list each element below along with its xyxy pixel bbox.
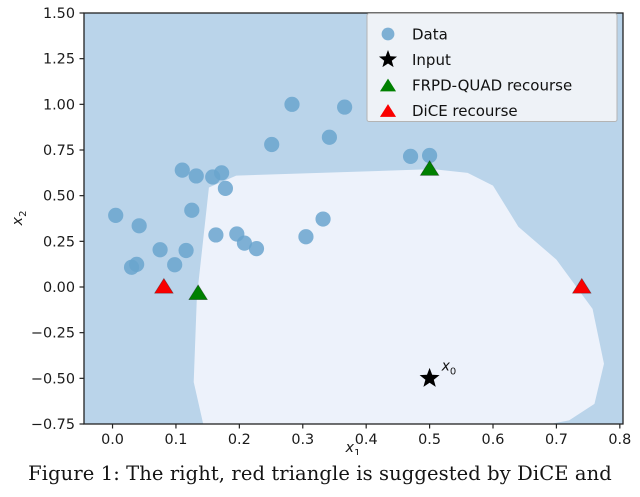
- data-point: [214, 165, 229, 180]
- data-point: [129, 257, 144, 272]
- x-axis-ticks: 0.00.10.20.30.40.50.60.70.8: [101, 424, 631, 448]
- y-tick-label: 1.25: [43, 52, 75, 68]
- x-tick-label: 0.8: [608, 432, 631, 448]
- data-point: [108, 208, 123, 223]
- x-tick-label: 0.7: [545, 432, 568, 448]
- data-point: [249, 241, 264, 256]
- data-point: [337, 99, 352, 114]
- y-tick-label: 0.50: [43, 189, 75, 205]
- y-tick-label: −0.25: [31, 326, 75, 342]
- y-axis-ticks: −0.75−0.50−0.250.000.250.500.751.001.251…: [31, 6, 84, 433]
- data-point: [189, 168, 204, 183]
- data-point: [403, 149, 418, 164]
- data-point: [132, 218, 147, 233]
- data-point: [208, 227, 223, 242]
- y-tick-label: 1.00: [43, 97, 75, 113]
- y-tick-label: 1.50: [43, 6, 75, 22]
- x-tick-label: 0.6: [482, 432, 505, 448]
- x-tick-label: 0.1: [165, 432, 188, 448]
- y-tick-label: 0.75: [43, 143, 75, 159]
- data-point: [178, 243, 193, 258]
- y-tick-label: −0.75: [31, 417, 75, 433]
- x-tick-label: 0.4: [355, 432, 378, 448]
- x-tick-label: 0.5: [418, 432, 441, 448]
- scatter-plot: x0 0.00.10.20.30.40.50.60.70.8 −0.75−0.5…: [0, 0, 640, 455]
- figure-container: x0 0.00.10.20.30.40.50.60.70.8 −0.75−0.5…: [0, 0, 640, 455]
- data-point: [322, 130, 337, 145]
- y-tick-label: −0.50: [31, 371, 75, 387]
- data-point: [175, 162, 190, 177]
- data-point: [184, 203, 199, 218]
- y-tick-label: 0.25: [43, 234, 75, 250]
- x-tick-label: 0.0: [101, 432, 124, 448]
- data-point: [284, 97, 299, 112]
- legend-label: FRPD-QUAD recourse: [412, 77, 572, 95]
- x-tick-label: 0.2: [228, 432, 251, 448]
- data-point: [152, 242, 167, 257]
- legend-label: Data: [412, 26, 448, 44]
- x-tick-label: 0.3: [291, 432, 314, 448]
- legend-label: Input: [412, 51, 451, 69]
- y-tick-label: 0.00: [43, 280, 75, 296]
- data-point: [264, 137, 279, 152]
- data-point: [218, 181, 233, 196]
- figure-caption: Figure 1: The right, red triangle is sug…: [0, 462, 640, 485]
- data-point: [298, 229, 313, 244]
- chart-legend: DataInputFRPD-QUAD recourseDiCE recourse: [367, 14, 617, 122]
- legend-circle-icon: [382, 28, 395, 41]
- data-point: [315, 211, 330, 226]
- legend-label: DiCE recourse: [412, 102, 518, 120]
- data-point: [167, 257, 182, 272]
- y-axis-label: x2: [10, 211, 29, 227]
